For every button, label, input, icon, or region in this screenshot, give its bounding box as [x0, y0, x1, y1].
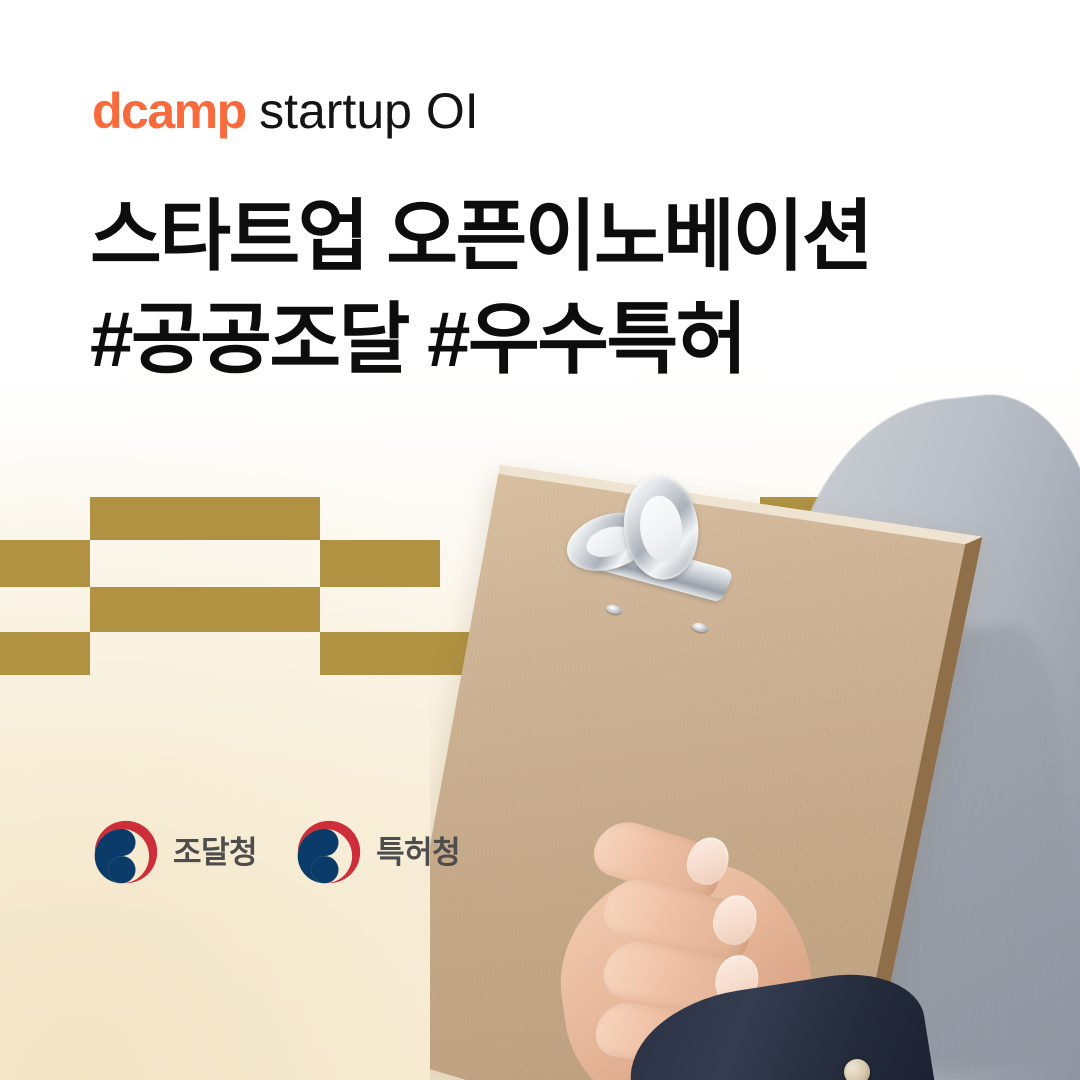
headline-line-2: #공공조달 #우수특허: [90, 288, 871, 391]
decorative-bar: [90, 587, 320, 632]
cuff-button: [842, 1057, 872, 1080]
decorative-bar: [0, 540, 90, 587]
brand-logo-mark: dcamp: [92, 83, 246, 139]
taegeuk-blue-lobe: [108, 856, 135, 883]
headline-line-1: 스타트업 오픈이노베이션: [90, 192, 871, 280]
agency-logo-row: 조달청특허청: [92, 818, 460, 886]
agency-name: 특허청: [376, 837, 460, 868]
taegeuk-group: [95, 821, 158, 884]
agency-logo: 조달청: [92, 818, 257, 886]
hero-photo: [430, 380, 1080, 1080]
agency-logo: 특허청: [295, 818, 460, 886]
decorative-bar: [0, 632, 90, 675]
page-title: 스타트업 오픈이노베이션 #공공조달 #우수특허: [90, 185, 871, 391]
poster-canvas: dcamp startup OI 스타트업 오픈이노베이션 #공공조달 #우수특…: [0, 0, 1080, 1080]
taegeuk-blue-lobe: [311, 856, 338, 883]
taegeuk-icon: [295, 818, 363, 886]
brand-logo-rest: startup OI: [259, 83, 479, 139]
clipboard: [500, 465, 1060, 1080]
brand-logo: dcamp startup OI: [92, 86, 479, 136]
decorative-bar: [320, 540, 440, 587]
decorative-bar: [90, 497, 320, 540]
taegeuk-group: [298, 821, 361, 884]
agency-name: 조달청: [173, 837, 257, 868]
taegeuk-icon: [92, 818, 160, 886]
